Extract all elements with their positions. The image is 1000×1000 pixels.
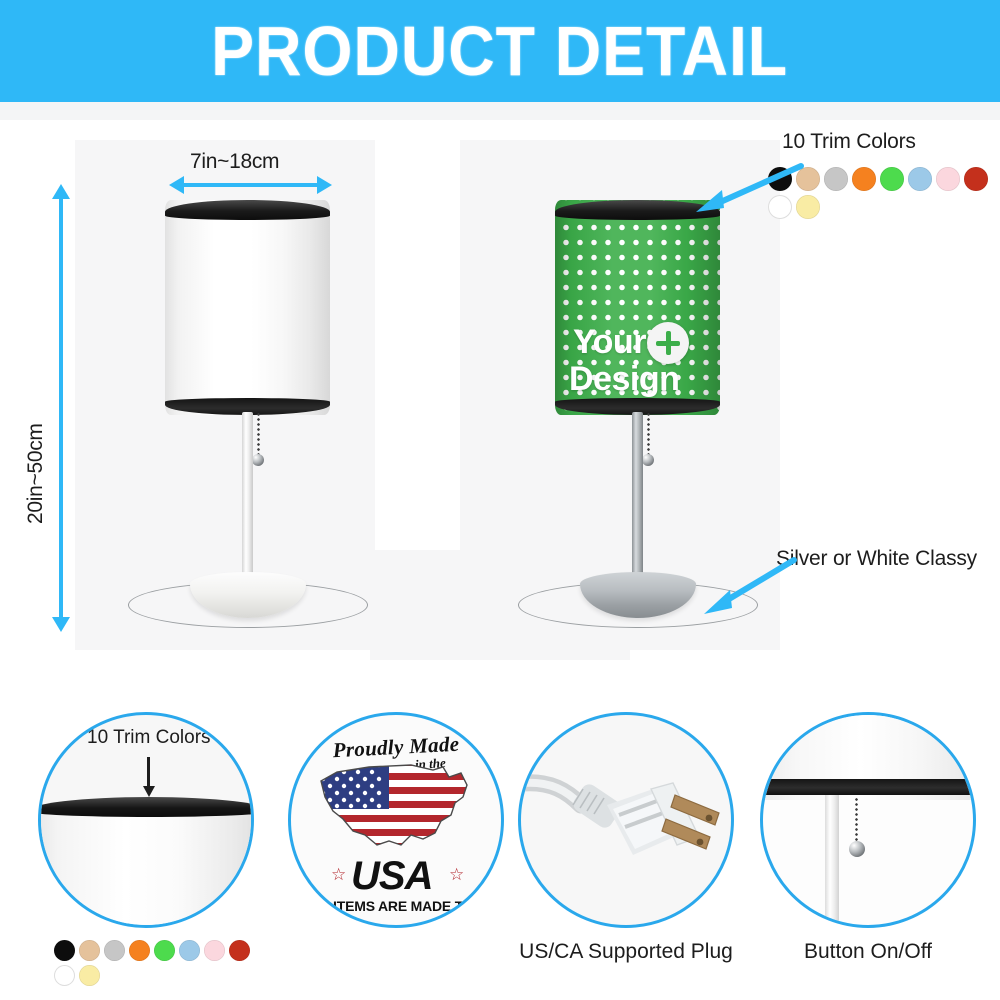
plug-circle: [518, 712, 734, 928]
width-dimension-arrow: [183, 183, 318, 187]
pull-chain-icon: [855, 797, 858, 845]
plus-icon: [647, 322, 689, 364]
trim-swatch-gray[interactable]: [824, 167, 848, 191]
feature-trim-colors: 10 Trim Colors: [38, 712, 268, 992]
design-text-line2: Design: [569, 362, 679, 397]
shade-fragment-body: [38, 807, 254, 928]
height-dimension-label: 20in~50cm: [24, 423, 48, 524]
trim-swatch-white[interactable]: [54, 965, 75, 986]
product-detail-infographic: PRODUCT DETAIL 7in~18cm 20in~50cm: [0, 0, 1000, 1000]
trim-swatch-light-blue[interactable]: [179, 940, 200, 961]
header-banner: PRODUCT DETAIL: [0, 0, 1000, 102]
made-in-usa-circle: Proudly Made in the: [288, 712, 504, 928]
usa-star-right-icon: ☆: [449, 865, 464, 885]
base-finish-arrow: [694, 552, 804, 622]
power-plug-icon: [523, 761, 733, 891]
width-dimension-label: 7in~18cm: [190, 150, 279, 174]
lamp-stem-fragment: [825, 795, 839, 928]
usa-flag-map-icon: [315, 759, 485, 854]
trim-swatch-red[interactable]: [229, 940, 250, 961]
page-title: PRODUCT DETAIL: [212, 16, 789, 86]
pull-chain: [257, 412, 260, 457]
pull-chain: [647, 412, 650, 457]
trim-swatch-pink[interactable]: [936, 167, 960, 191]
trim-colors-circle: 10 Trim Colors: [38, 712, 254, 928]
trim-swatch-green[interactable]: [880, 167, 904, 191]
trim-swatch-tan[interactable]: [79, 940, 100, 961]
design-text-line1: Your: [573, 325, 646, 360]
pull-chain-ball: [642, 454, 654, 466]
shade-fragment-trim: [38, 797, 254, 817]
feature-button-on-off: Button On/Off: [760, 712, 1000, 972]
trim-swatch-yellow[interactable]: [79, 965, 100, 986]
lamp-white: [120, 200, 400, 640]
button-on-off-circle: [760, 712, 976, 928]
header-underbar: [0, 102, 1000, 120]
pull-chain-ball: [252, 454, 264, 466]
usa-word: USA: [351, 854, 432, 899]
plug-caption: US/CA Supported Plug: [506, 940, 746, 964]
trim-swatch-pink[interactable]: [204, 940, 225, 961]
trim-swatch-green[interactable]: [154, 940, 175, 961]
lamp-shade-white: [165, 200, 330, 415]
trim-swatch-black[interactable]: [54, 940, 75, 961]
feature-plug: US/CA Supported Plug: [518, 712, 758, 972]
trim-swatch-red[interactable]: [964, 167, 988, 191]
trim-colors-label: 10 Trim Colors: [782, 130, 916, 154]
shade-surface: [165, 200, 330, 415]
trim-swatch-orange[interactable]: [129, 940, 150, 961]
shade-fragment-trim: [760, 779, 976, 795]
usa-star-left-icon: ☆: [331, 865, 346, 885]
trim-colors-inner-label: 10 Trim Colors: [87, 727, 211, 749]
trim-colors-down-arrow: [147, 757, 150, 787]
usa-subtitle: ALL ITEMS ARE MADE TO ORDER!: [303, 898, 504, 914]
trim-swatch-orange[interactable]: [852, 167, 876, 191]
trim-color-swatch-grid-bottom: [54, 940, 264, 986]
usa-heading-group: Proudly Made: [291, 735, 501, 760]
lamp-shade-green: Your Design: [555, 200, 720, 415]
trim-swatch-light-blue[interactable]: [908, 167, 932, 191]
height-dimension-arrow: [59, 198, 63, 618]
shade-top-trim: [165, 200, 330, 220]
base-finish-label: Silver or White Classy: [776, 547, 977, 571]
trim-arrow-to-shade: [688, 160, 808, 215]
feature-made-in-usa: Proudly Made in the: [288, 712, 518, 952]
trim-swatch-gray[interactable]: [104, 940, 125, 961]
button-on-off-caption: Button On/Off: [748, 940, 988, 964]
pull-chain-ball: [849, 841, 865, 857]
main-product-stage: 7in~18cm 20in~50cm: [0, 120, 1000, 680]
